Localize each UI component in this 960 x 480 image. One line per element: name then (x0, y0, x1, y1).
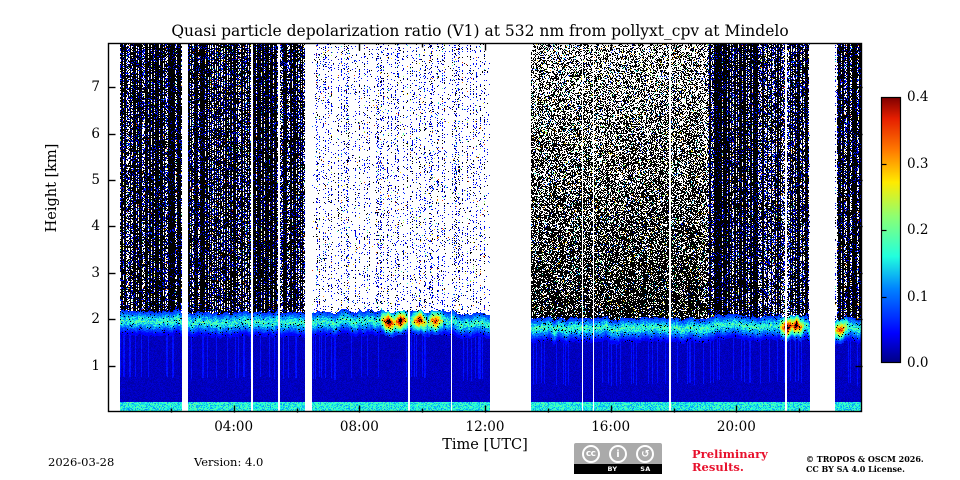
cc-badge-icon-row: cc i ↺ (574, 443, 662, 465)
cc-by-icon: i (609, 445, 627, 463)
heatmap-canvas (0, 0, 960, 480)
y-tick-label-4: 5 (82, 172, 100, 188)
cc-logo-icon: cc (582, 445, 600, 463)
cc-badge-tag-row: BY SA (574, 464, 662, 474)
colorbar-tick-label-4: 0.4 (907, 89, 928, 105)
x-tick-label-0: 04:00 (214, 419, 253, 435)
y-tick-label-6: 7 (82, 79, 100, 95)
y-tick-label-5: 6 (82, 126, 100, 142)
colorbar-tick-label-0: 0.0 (907, 355, 928, 371)
y-tick-label-3: 4 (82, 218, 100, 234)
copyright-line-2: CC BY SA 4.0 License. (806, 465, 924, 475)
cc-sa-tag: SA (640, 465, 650, 473)
x-tick-label-2: 12:00 (466, 419, 505, 435)
colorbar-tick-label-1: 0.1 (907, 289, 928, 305)
cc-by-tag: BY (607, 465, 617, 473)
y-axis-label: Height [km] (44, 118, 60, 258)
x-tick-label-3: 16:00 (591, 419, 630, 435)
preliminary-line-2: Results. (692, 461, 768, 474)
copyright-notice: © TROPOS & OSCM 2026. CC BY SA 4.0 Licen… (806, 455, 924, 474)
preliminary-results-notice: Preliminary Results. (692, 448, 768, 473)
colorbar-tick-label-3: 0.3 (907, 156, 928, 172)
y-tick-label-2: 3 (82, 265, 100, 281)
footer-version: Version: 4.0 (194, 455, 263, 469)
cc-sa-icon: ↺ (636, 445, 654, 463)
y-tick-label-0: 1 (82, 358, 100, 374)
footer-date: 2026-03-28 (48, 455, 114, 469)
colorbar-tick-label-2: 0.2 (907, 222, 928, 238)
lidar-quicklook-figure: Quasi particle depolarization ratio (V1)… (0, 0, 960, 480)
x-tick-label-4: 20:00 (717, 419, 756, 435)
preliminary-line-1: Preliminary (692, 448, 768, 461)
creative-commons-badge-icon: cc i ↺ BY SA (574, 443, 662, 474)
x-tick-label-1: 08:00 (340, 419, 379, 435)
y-tick-label-1: 2 (82, 311, 100, 327)
